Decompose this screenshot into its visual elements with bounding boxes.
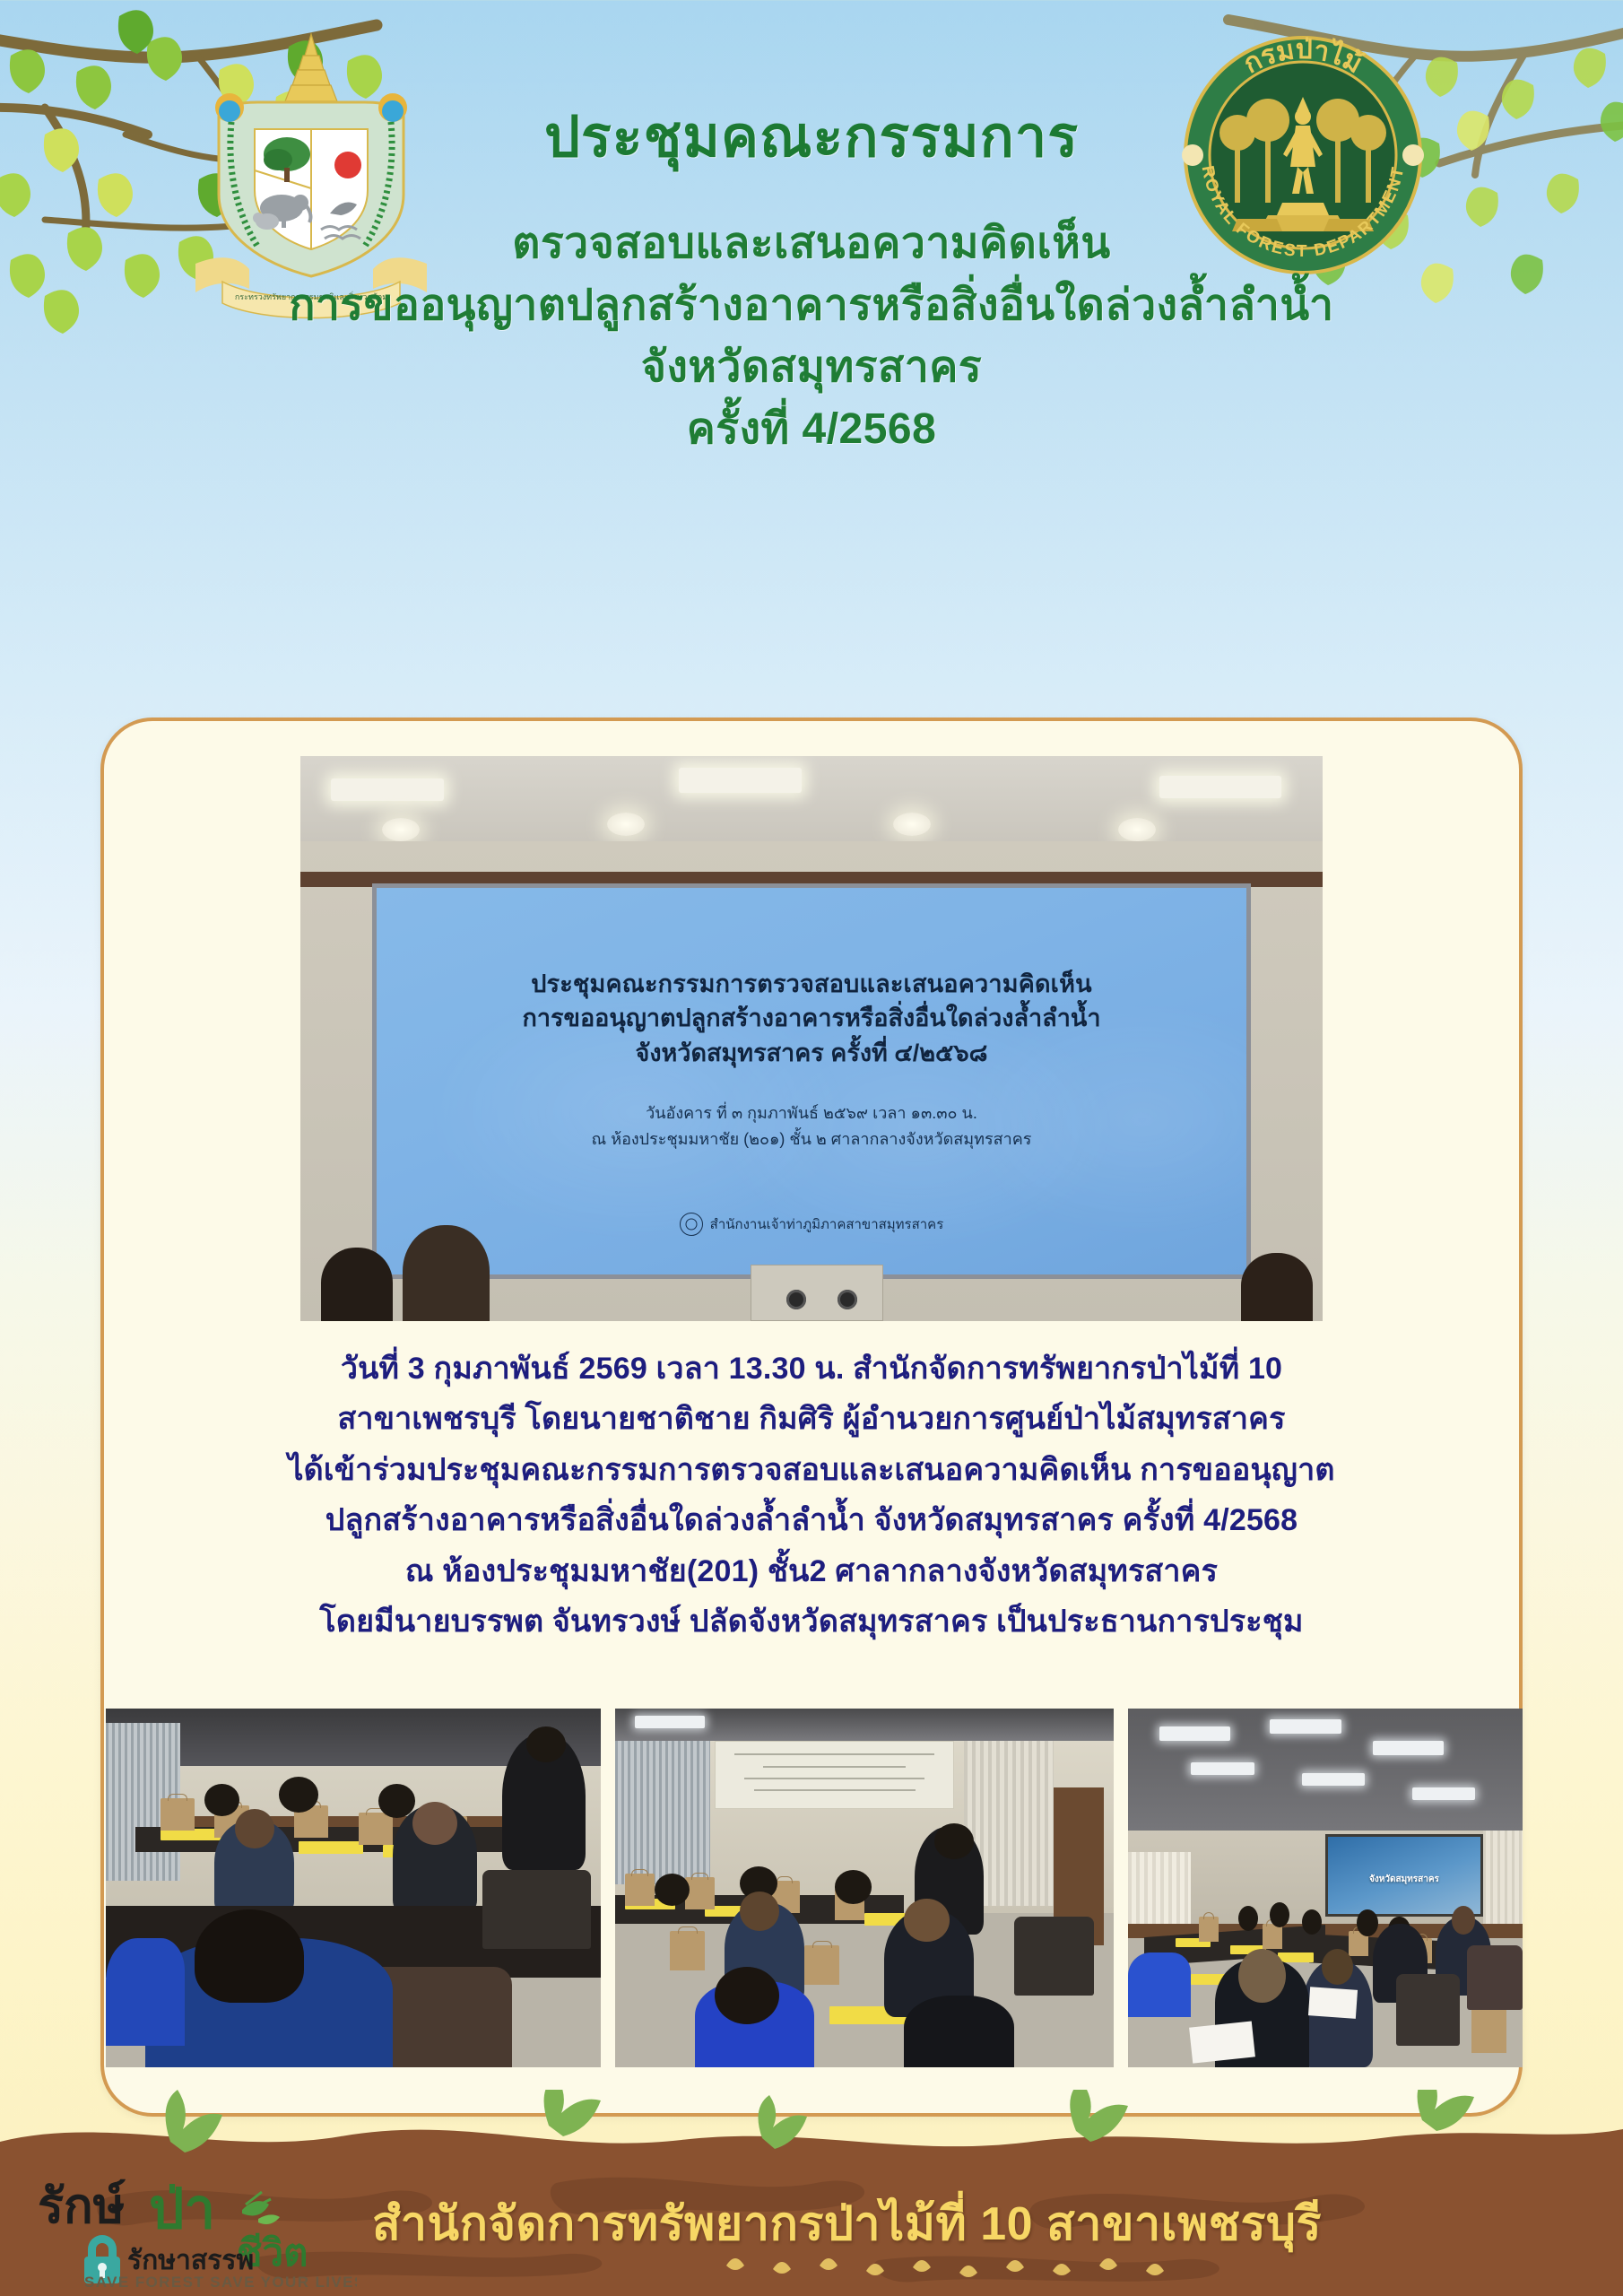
document-paper bbox=[1308, 1987, 1358, 2019]
paper-bag bbox=[685, 1877, 715, 1909]
attendee-head bbox=[1241, 1253, 1313, 1321]
projection-screen: ประชุมคณะกรรมการตรวจสอบและเสนอความคิดเห็… bbox=[377, 888, 1246, 1274]
slide-title-line-3: จังหวัดสมุทรสาคร ครั้งที่ ๔/๒๕๖๘ bbox=[636, 1036, 988, 1070]
attendee-head bbox=[715, 1967, 779, 2024]
ceiling-light bbox=[331, 778, 443, 801]
ceiling-light bbox=[1159, 1726, 1230, 1741]
body-line-6: โดยมีนายบรรพต จันทรวงษ์ ปลัดจังหวัดสมุทร… bbox=[135, 1596, 1488, 1647]
subtitle-line-2: การขออนุญาตปลูกสร้างอาคารหรือสิ่งอื่นใดล… bbox=[0, 274, 1623, 336]
ceiling-light bbox=[1159, 776, 1282, 798]
ceiling-light bbox=[1191, 1762, 1254, 1775]
slide-title-line-2: การขออนุญาตปลูกสร้างอาคารหรือสิ่งอื่นใดล… bbox=[522, 1001, 1100, 1035]
save-forest-logo: รักษ์ ป่า ชีวิต รักษาสรรพ SAVE FOREST SA… bbox=[34, 2172, 357, 2289]
paper-bag bbox=[1263, 1924, 1282, 1949]
paper-bag bbox=[625, 1874, 655, 1906]
subtitle-block: ตรวจสอบและเสนอความคิดเห็น การขออนุญาตปลู… bbox=[0, 213, 1623, 460]
body-line-3: ได้เข้าร่วมประชุมคณะกรรมการตรวจสอบและเสน… bbox=[135, 1445, 1488, 1495]
downlight bbox=[893, 813, 931, 836]
logo-word-pa: ป่า bbox=[149, 2179, 215, 2240]
attendee-head bbox=[412, 1802, 457, 1845]
photo-room-overview: จังหวัดสมุทรสาคร bbox=[1128, 1709, 1523, 2067]
attendee-head bbox=[934, 1823, 974, 1859]
body-line-5: ณ ห้องประชุมมหาชัย(201) ชั้น2 ศาลากลางจั… bbox=[135, 1546, 1488, 1596]
window-blinds bbox=[615, 1741, 710, 1884]
event-banner bbox=[715, 1741, 954, 1809]
foreground-attendee bbox=[106, 1938, 185, 2046]
attendee-head bbox=[1322, 1949, 1353, 1985]
paper-bag bbox=[804, 1945, 839, 1985]
marine-department-seal-icon bbox=[680, 1213, 703, 1236]
slide-when-line-1: วันอังคาร ที่ ๓ กุมภาพันธ์ ๒๕๖๙ เวลา ๑๓.… bbox=[592, 1100, 1032, 1126]
ceiling-light bbox=[1302, 1773, 1365, 1786]
slide-when-line-2: ณ ห้องประชุมมหาชัย (๒๐๑) ชั้น ๒ ศาลากลาง… bbox=[592, 1126, 1032, 1152]
nameplate bbox=[299, 1841, 363, 1854]
ceiling bbox=[300, 756, 1323, 841]
ceiling-light bbox=[679, 768, 802, 793]
attendee-head bbox=[1238, 1949, 1286, 2003]
microphone bbox=[838, 1290, 857, 1309]
downlight bbox=[607, 813, 645, 836]
window-curtains bbox=[1128, 1852, 1191, 1931]
slide-organizer-text: สำนักงานเจ้าท่าภูมิภาคสาขาสมุทรสาคร bbox=[710, 1213, 944, 1235]
attendee-head bbox=[204, 1784, 239, 1816]
attendee-head bbox=[526, 1726, 566, 1762]
subtitle-line-3: จังหวัดสมุทรสาคร bbox=[0, 336, 1623, 398]
logo-word-rak: รักษ์ bbox=[38, 2179, 126, 2233]
attendee-head bbox=[1302, 1909, 1322, 1935]
document-paper bbox=[1189, 2021, 1255, 2063]
footer-office-title: สำนักจัดการทรัพยากรป่าไม้ที่ 10 สาขาเพชร… bbox=[372, 2186, 1569, 2260]
foreground-attendee bbox=[904, 1996, 1013, 2067]
body-line-2: สาขาเพชรบุรี โดยนายชาติชาย กิมศิริ ผู้อำ… bbox=[135, 1394, 1488, 1444]
attendee-head bbox=[403, 1225, 490, 1321]
attendee-head bbox=[235, 1809, 274, 1848]
ceiling-light bbox=[1270, 1719, 1341, 1734]
foreground-attendee bbox=[1128, 1952, 1191, 2017]
podium bbox=[751, 1265, 883, 1321]
paper-bag bbox=[670, 1931, 705, 1970]
banner-text-line bbox=[734, 1753, 933, 1755]
hero-meeting-photo: ประชุมคณะกรรมการตรวจสอบและเสนอความคิดเห็… bbox=[300, 756, 1323, 1321]
photo-meeting-wide-banner bbox=[615, 1709, 1114, 2067]
page-title: ประชุมคณะกรรมการ bbox=[0, 106, 1623, 170]
slide-organizer: สำนักงานเจ้าท่าภูมิภาคสาขาสมุทรสาคร bbox=[680, 1213, 944, 1236]
banner-text-line bbox=[744, 1778, 924, 1779]
paper-bag bbox=[1199, 1917, 1219, 1942]
attendee-head bbox=[904, 1899, 949, 1942]
paper-bag bbox=[359, 1813, 394, 1845]
display-screen-label: จังหวัดสมุทรสาคร bbox=[1328, 1873, 1480, 1886]
sprout-icon bbox=[242, 2192, 280, 2224]
attendee-head bbox=[195, 1909, 303, 2003]
body-line-1: วันที่ 3 กุมภาพันธ์ 2569 เวลา 13.30 น. ส… bbox=[135, 1344, 1488, 1394]
ceiling-light bbox=[1412, 1787, 1475, 1800]
ceiling-light bbox=[635, 1716, 705, 1728]
slide-datetime: วันอังคาร ที่ ๓ กุมภาพันธ์ ๒๕๖๙ เวลา ๑๓.… bbox=[592, 1100, 1032, 1152]
banner-text-line bbox=[763, 1766, 906, 1768]
chair bbox=[1467, 1945, 1523, 2010]
attendee-head bbox=[321, 1248, 393, 1321]
attendee-head bbox=[279, 1777, 318, 1813]
banner-text-line bbox=[754, 1789, 916, 1791]
microphone bbox=[786, 1290, 806, 1309]
logo-english-tagline: SAVE FOREST SAVE YOUR LIVES bbox=[84, 2274, 357, 2289]
chair bbox=[1014, 1917, 1094, 1996]
body-line-4: ปลูกสร้างอาคารหรือสิ่งอื่นใดล่วงล้ำลำน้ำ… bbox=[135, 1495, 1488, 1545]
display-screen: จังหวัดสมุทรสาคร bbox=[1325, 1834, 1483, 1917]
body-paragraph: วันที่ 3 กุมภาพันธ์ 2569 เวลา 13.30 น. ส… bbox=[135, 1344, 1488, 1648]
paper-bag bbox=[1471, 2003, 1507, 2053]
attendee-head bbox=[835, 1870, 872, 1904]
projection-screen-frame: ประชุมคณะกรรมการตรวจสอบและเสนอความคิดเห็… bbox=[372, 883, 1251, 1279]
subtitle-line-1: ตรวจสอบและเสนอความคิดเห็น bbox=[0, 213, 1623, 274]
photo-gallery: จังหวัดสมุทรสาคร bbox=[106, 1709, 1523, 2067]
ceiling-light bbox=[1373, 1741, 1444, 1755]
window-blinds bbox=[1483, 1831, 1523, 1924]
poster-header: ประชุมคณะกรรมการ ตรวจสอบและเสนอความคิดเห… bbox=[0, 106, 1623, 460]
subtitle-line-4-session: ครั้งที่ 4/2568 bbox=[0, 398, 1623, 460]
photo-attendees-closeup bbox=[106, 1709, 601, 2067]
logo-word-raksa-sapp: รักษาสรรพ bbox=[127, 2246, 254, 2275]
chair bbox=[1396, 1974, 1459, 2046]
attendee-head bbox=[1452, 1906, 1475, 1935]
slide-title-line-1: ประชุมคณะกรรมการตรวจสอบและเสนอความคิดเห็… bbox=[531, 967, 1092, 1001]
paper-bag bbox=[161, 1798, 195, 1831]
chair bbox=[482, 1870, 591, 1949]
